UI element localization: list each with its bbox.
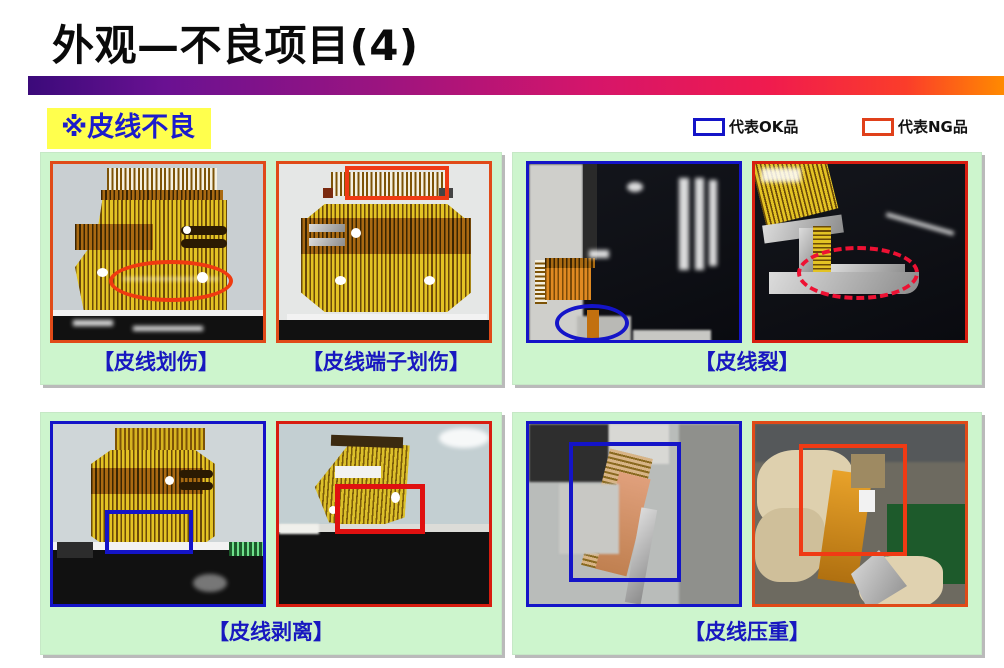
caption-terminal-scratch: 【皮线端子划伤】 — [271, 346, 501, 376]
section-tag: ※皮线不良 — [47, 108, 211, 149]
photo-artwork — [279, 424, 489, 604]
photo-row — [513, 421, 981, 607]
photo-artwork — [279, 164, 489, 340]
legend-ok-label: 代表OK品 — [729, 116, 798, 137]
panel-top-left: 【皮线划伤】 【皮线端子划伤】 — [40, 152, 502, 385]
flex-cable-terminal-scratch-photo[interactable] — [276, 161, 492, 343]
photo-artwork — [529, 424, 739, 604]
legend-ok: 代表OK品 — [693, 116, 798, 137]
flex-cable-crack-photo[interactable] — [752, 161, 968, 343]
caption-crack: 【皮线裂】 — [695, 346, 800, 376]
flex-cable-over-press-photo[interactable] — [752, 421, 968, 607]
photo-artwork — [529, 164, 739, 340]
photo-artwork — [53, 164, 263, 340]
photo-row — [513, 161, 981, 343]
blue-box-icon — [693, 118, 725, 136]
legend-ng: 代表NG品 — [862, 116, 968, 137]
flex-cable-peeled-photo[interactable] — [276, 421, 492, 607]
caption-peeling: 【皮线剥离】 — [208, 616, 334, 646]
flex-cable-normal-press-photo[interactable] — [526, 421, 742, 607]
caption-row: 【皮线划伤】 【皮线端子划伤】 — [41, 346, 501, 376]
caption-row: 【皮线裂】 — [513, 346, 981, 376]
title-bar: 外观—不良项目(4) — [0, 0, 1004, 96]
panel-bottom-right: 【皮线压重】 — [512, 412, 982, 655]
legend-ng-label: 代表NG品 — [898, 116, 968, 137]
red-box-icon — [862, 118, 894, 136]
caption-over-press: 【皮线压重】 — [684, 616, 810, 646]
panel-top-right: 【皮线裂】 — [512, 152, 982, 385]
flex-cable-ok-photo[interactable] — [526, 161, 742, 343]
caption-row: 【皮线压重】 — [513, 616, 981, 646]
photo-row — [41, 421, 501, 607]
title-gradient-rule — [28, 76, 1004, 95]
flex-cable-attached-ok-photo[interactable] — [50, 421, 266, 607]
flex-cable-scratch-photo[interactable] — [50, 161, 266, 343]
page-title: 外观—不良项目(4) — [52, 12, 419, 73]
panel-bottom-left: 【皮线剥离】 — [40, 412, 502, 655]
photo-artwork — [755, 424, 965, 604]
photo-row — [41, 161, 501, 343]
caption-scratch: 【皮线划伤】 — [41, 346, 271, 376]
caption-row: 【皮线剥离】 — [41, 616, 501, 646]
photo-artwork — [755, 164, 965, 340]
photo-artwork — [53, 424, 263, 604]
slide-root: 外观—不良项目(4) ※皮线不良 代表OK品 代表NG品 — [0, 0, 1004, 668]
